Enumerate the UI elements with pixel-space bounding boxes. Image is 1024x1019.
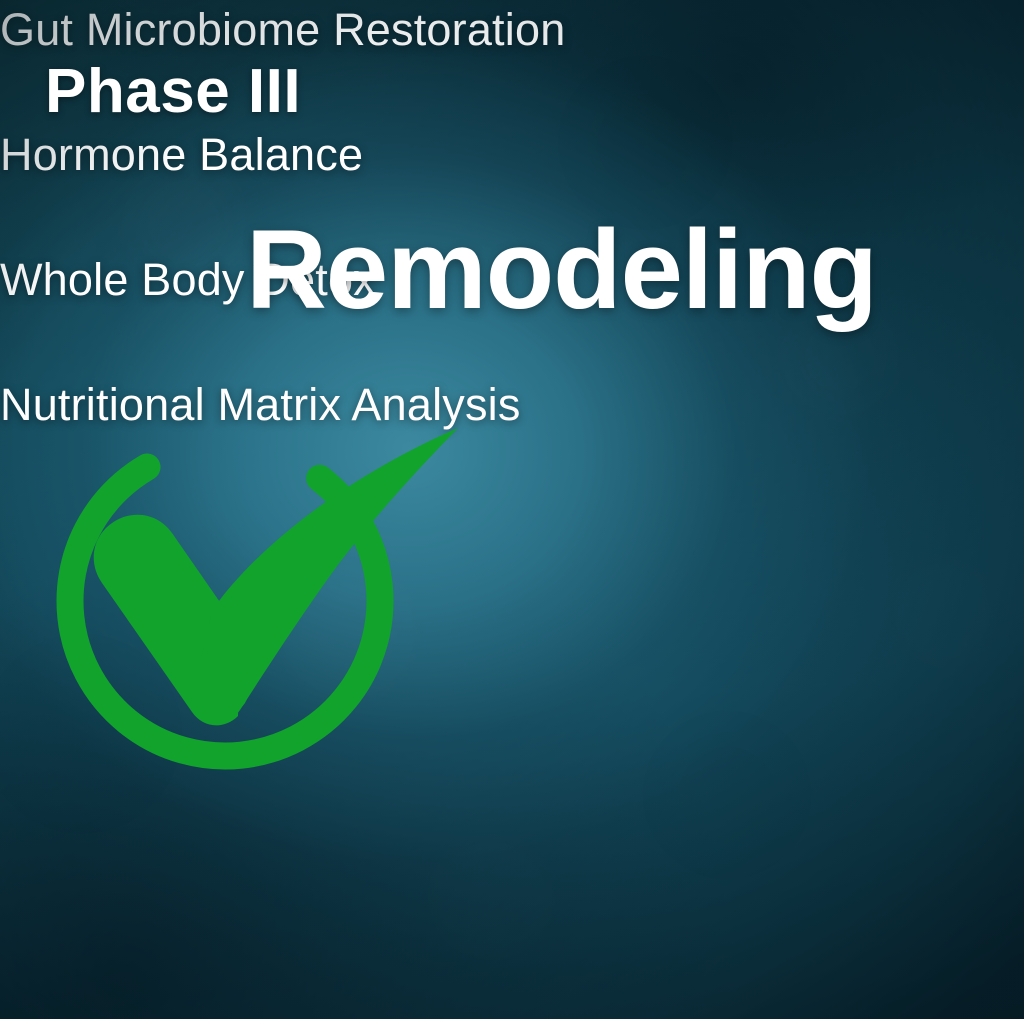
slide-canvas: Phase III Remodeling Gut Microbiome Rest… — [0, 0, 1024, 1019]
page-title: Remodeling — [246, 205, 877, 334]
green-check-circle-icon — [40, 405, 480, 795]
phase-label: Phase III — [45, 56, 301, 127]
